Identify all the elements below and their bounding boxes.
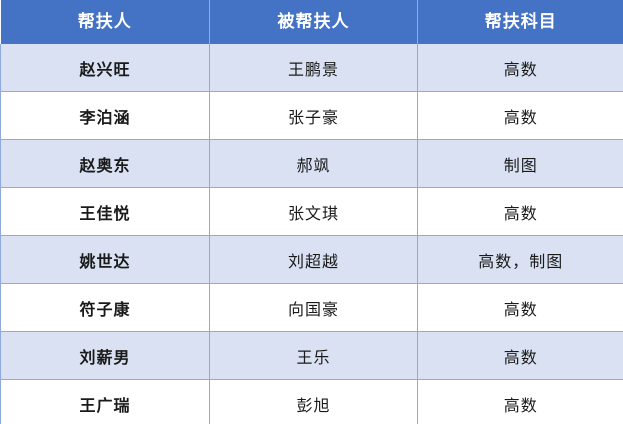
cell-helper: 刘薪男: [1, 332, 210, 380]
cell-subject: 制图: [418, 140, 623, 188]
cell-helped: 张子豪: [210, 92, 418, 140]
cell-helper: 赵奥东: [1, 140, 210, 188]
table-row: 王广瑞彭旭高数: [1, 380, 623, 424]
table-row: 刘薪男王乐高数: [1, 332, 623, 380]
cell-subject: 高数: [418, 188, 623, 236]
table-header-row: 帮扶人 被帮扶人 帮扶科目: [1, 0, 623, 44]
cell-subject: 高数: [418, 284, 623, 332]
cell-helper: 王佳悦: [1, 188, 210, 236]
cell-subject: 高数: [418, 92, 623, 140]
table-container: 帮扶人 被帮扶人 帮扶科目 赵兴旺王鹏景高数李泊涵张子豪高数赵奥东郝飒制图王佳悦…: [0, 0, 623, 424]
table-row: 符子康向国豪高数: [1, 284, 623, 332]
cell-subject: 高数: [418, 44, 623, 92]
cell-helped: 郝飒: [210, 140, 418, 188]
cell-helper: 符子康: [1, 284, 210, 332]
cell-subject: 高数: [418, 380, 623, 424]
table-row: 姚世达刘超越高数，制图: [1, 236, 623, 284]
table-row: 赵奥东郝飒制图: [1, 140, 623, 188]
table-body: 赵兴旺王鹏景高数李泊涵张子豪高数赵奥东郝飒制图王佳悦张文琪高数姚世达刘超越高数，…: [1, 44, 623, 424]
cell-helped: 向国豪: [210, 284, 418, 332]
cell-helper: 王广瑞: [1, 380, 210, 424]
column-header-helper: 帮扶人: [1, 0, 210, 44]
table-header: 帮扶人 被帮扶人 帮扶科目: [1, 0, 623, 44]
cell-subject: 高数，制图: [418, 236, 623, 284]
cell-subject: 高数: [418, 332, 623, 380]
cell-helper: 姚世达: [1, 236, 210, 284]
table-row: 李泊涵张子豪高数: [1, 92, 623, 140]
column-header-subject: 帮扶科目: [418, 0, 623, 44]
cell-helped: 刘超越: [210, 236, 418, 284]
cell-helped: 彭旭: [210, 380, 418, 424]
cell-helper: 赵兴旺: [1, 44, 210, 92]
assist-pairing-table: 帮扶人 被帮扶人 帮扶科目 赵兴旺王鹏景高数李泊涵张子豪高数赵奥东郝飒制图王佳悦…: [0, 0, 623, 424]
cell-helped: 张文琪: [210, 188, 418, 236]
cell-helped: 王鹏景: [210, 44, 418, 92]
column-header-helped: 被帮扶人: [210, 0, 418, 44]
table-row: 赵兴旺王鹏景高数: [1, 44, 623, 92]
cell-helper: 李泊涵: [1, 92, 210, 140]
cell-helped: 王乐: [210, 332, 418, 380]
table-row: 王佳悦张文琪高数: [1, 188, 623, 236]
